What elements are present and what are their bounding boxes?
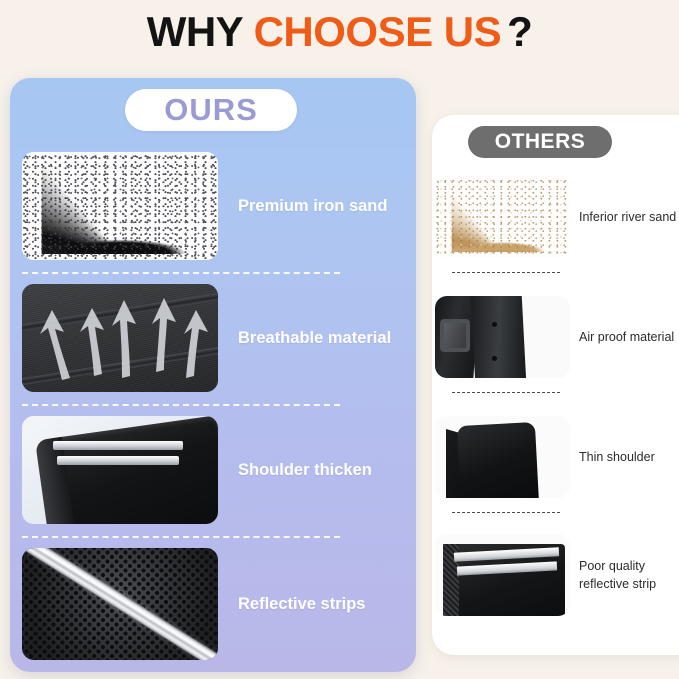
airflow-arrows-icon: [22, 284, 218, 392]
reflective-strip-mesh-photo: [22, 548, 218, 660]
thin-shoulder-pad-photo: [435, 416, 570, 498]
poor-reflective-strip-photo: [435, 534, 570, 616]
iron-sand-pile-photo: [22, 152, 218, 260]
others-badge-label: OTHERS: [495, 130, 586, 154]
others-feature-label-2: Air proof material: [579, 328, 674, 346]
others-feature-row-1: Inferior river sand: [432, 176, 679, 258]
others-feature-row-3: Thin shoulder: [432, 416, 679, 498]
ours-feature-row-2: Breathable material: [10, 284, 416, 392]
ours-feature-row-1: Premium iron sand: [10, 152, 416, 260]
others-separator-2: [452, 392, 560, 393]
others-feature-row-2: Air proof material: [432, 296, 679, 378]
ours-badge-label: OURS: [164, 92, 258, 128]
ours-feature-label-1: Premium iron sand: [238, 196, 387, 217]
ours-feature-row-3: Shoulder thicken: [10, 416, 416, 524]
others-separator-3: [452, 512, 560, 513]
breathable-mesh-arrows-photo: [22, 284, 218, 392]
ours-badge: OURS: [125, 89, 297, 131]
ours-separator-1: [22, 272, 340, 274]
thick-shoulder-pad-photo: [22, 416, 218, 524]
title-word-why: WHY: [147, 8, 243, 55]
air-proof-vest-photo: [435, 296, 570, 378]
page-title: WHY CHOOSE US?: [0, 0, 679, 64]
ours-separator-3: [22, 536, 340, 538]
river-sand-pile-photo: [435, 176, 570, 258]
ours-feature-label-3: Shoulder thicken: [238, 460, 372, 481]
others-feature-label-1: Inferior river sand: [579, 208, 676, 226]
others-feature-label-3: Thin shoulder: [579, 448, 655, 466]
others-feature-row-4: Poor quality reflective strip: [432, 534, 679, 616]
title-question-mark: ?: [507, 8, 532, 55]
others-separator-1: [452, 272, 560, 273]
others-feature-label-4: Poor quality reflective strip: [579, 557, 656, 593]
title-word-choose-us: CHOOSE US: [254, 8, 502, 55]
others-badge: OTHERS: [468, 126, 612, 158]
ours-feature-row-4: Reflective strips: [10, 548, 416, 660]
ours-separator-2: [22, 404, 340, 406]
ours-feature-label-2: Breathable material: [238, 328, 391, 349]
ours-feature-label-4: Reflective strips: [238, 594, 365, 615]
